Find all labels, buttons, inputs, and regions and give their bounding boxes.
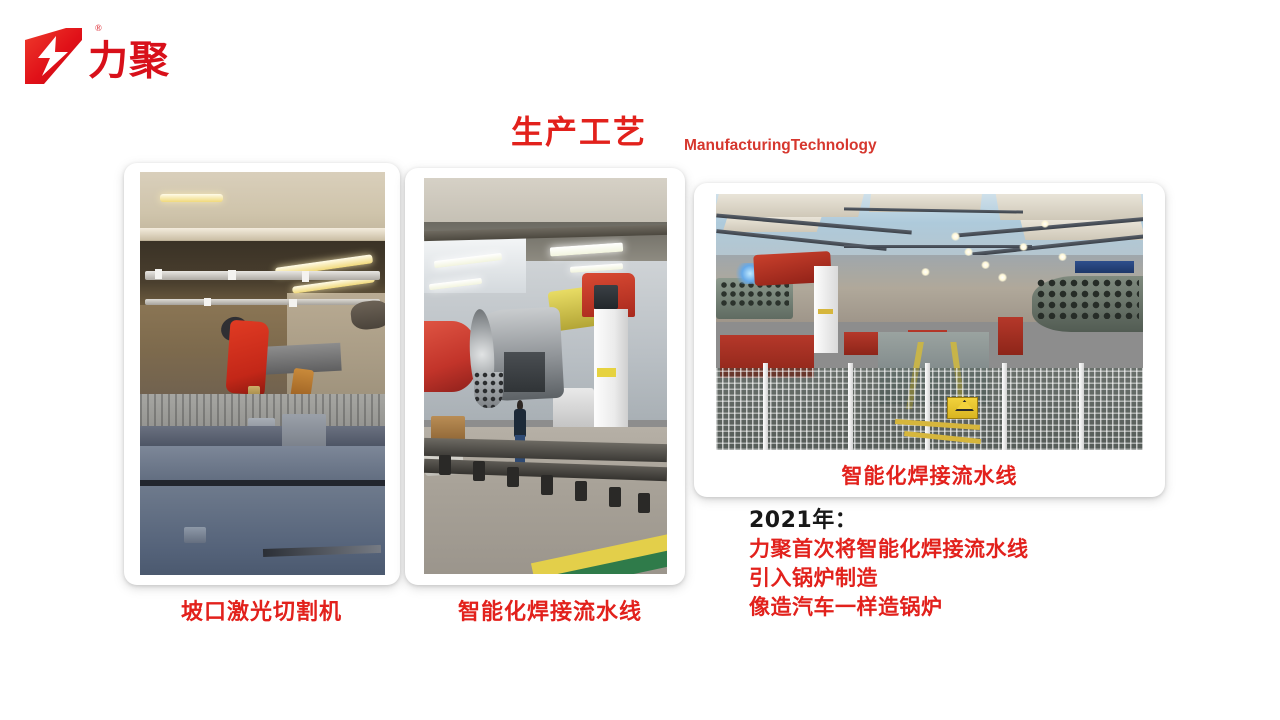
card-caption-1: 坡口激光切割机 bbox=[181, 594, 342, 626]
note-year: 2021年： bbox=[749, 506, 1029, 535]
note-line-1: 力聚首次将智能化焊接流水线 bbox=[749, 535, 1029, 564]
card-caption-3: 智能化焊接流水线 bbox=[694, 460, 1165, 490]
page-title: 生产工艺 bbox=[511, 113, 647, 151]
photo-card-welding-line-wide[interactable]: 智能化焊接流水线 bbox=[694, 183, 1165, 497]
photo-card-laser-cutter[interactable] bbox=[124, 163, 400, 585]
card-caption-2: 智能化焊接流水线 bbox=[458, 594, 642, 626]
photo-smart-welding-production-line bbox=[716, 194, 1143, 450]
warning-sign-icon bbox=[947, 397, 979, 419]
note-block: 2021年： 力聚首次将智能化焊接流水线 引入锅炉制造 像造汽车一样造锅炉 bbox=[749, 506, 1029, 622]
page-subtitle: ManufacturingTechnology bbox=[684, 136, 877, 156]
note-line-2: 引入锅炉制造 bbox=[749, 564, 1029, 593]
brand-logo: ® 力聚 bbox=[22, 22, 262, 84]
lightning-bolt-icon bbox=[22, 28, 86, 84]
brand-name: 力聚 bbox=[88, 38, 170, 84]
photo-laser-cutting-machine bbox=[140, 172, 385, 575]
note-line-3: 像造汽车一样造锅炉 bbox=[749, 593, 1029, 622]
registered-trademark-symbol: ® bbox=[95, 23, 102, 33]
photo-welding-positioner bbox=[424, 178, 667, 574]
photo-card-welding-line-1[interactable] bbox=[405, 168, 685, 585]
